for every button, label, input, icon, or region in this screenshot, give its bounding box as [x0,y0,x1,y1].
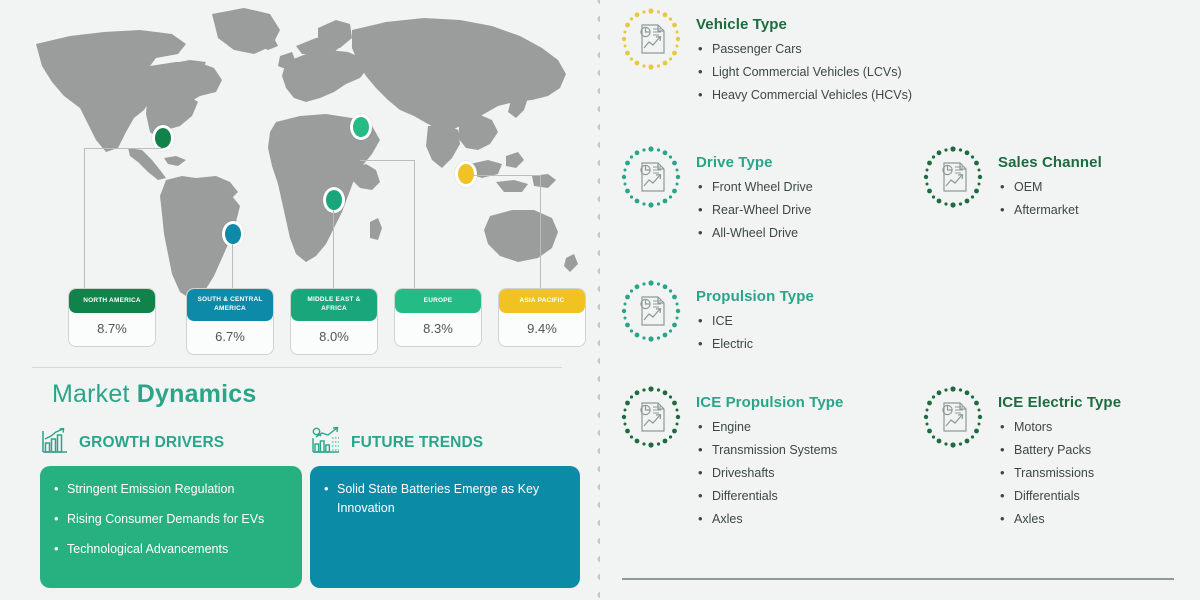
segment-item: Front Wheel Drive [696,180,813,194]
segment-drive-type[interactable]: Drive Type Front Wheel Drive Rear-Wheel … [618,144,813,240]
segment-title: Sales Channel [998,154,1102,171]
market-dynamics-title-bold: Dynamics [137,380,257,408]
segment-ice-electric-type[interactable]: ICE Electric Type Motors Battery Packs T… [920,384,1121,526]
region-name: SOUTH & CENTRAL AMERICA [187,289,273,321]
segment-item: Engine [696,420,843,434]
region-cagr-value: 8.7% [69,313,155,346]
connector-asia-pacific [540,175,541,288]
segment-title: ICE Electric Type [998,394,1121,411]
segment-body: Vehicle Type Passenger Cars Light Commer… [696,6,912,102]
segment-item: Light Commercial Vehicles (LCVs) [696,65,912,79]
segment-item: Passenger Cars [696,42,912,56]
segment-item: Rear-Wheel Drive [696,203,813,217]
growth-drivers-label: GROWTH DRIVERS [79,434,224,452]
segment-item: Differentials [696,489,843,503]
world-map-region [0,0,600,300]
region-card-europe[interactable]: EUROPE 8.3% [394,288,482,347]
document-chart-icon [618,278,684,344]
document-chart-icon [618,384,684,450]
segment-title: Drive Type [696,154,813,171]
region-card-asia-pacific[interactable]: ASIA PACIFIC 9.4% [498,288,586,347]
future-trends-header: FUTURE TRENDS [310,428,580,458]
segment-body: ICE Propulsion Type Engine Transmission … [696,384,843,526]
growth-driver-item: Technological Advancements [54,540,286,559]
south-central-america-marker[interactable] [222,221,244,247]
growth-drivers-column: GROWTH DRIVERS Stringent Emission Regula… [40,428,302,588]
segment-body: ICE Electric Type Motors Battery Packs T… [998,384,1121,526]
document-chart-icon [618,6,684,72]
right-panel-segments: Vehicle Type Passenger Cars Light Commer… [600,0,1200,600]
connector-europe [414,160,415,288]
segment-body: Propulsion Type ICE Electric [696,278,814,351]
segment-ice-propulsion-type[interactable]: ICE Propulsion Type Engine Transmission … [618,384,843,526]
segment-list: OEM Aftermarket [998,180,1102,217]
region-cagr-value: 9.4% [499,313,585,346]
future-trends-column: FUTURE TRENDS Solid State Batteries Emer… [310,428,580,588]
segment-item: Axles [696,512,843,526]
section-divider [32,367,562,368]
document-chart-icon [920,384,986,450]
region-name: NORTH AMERICA [69,289,155,313]
infographic-page: NORTH AMERICA 8.7% SOUTH & CENTRAL AMERI… [0,0,1200,600]
segment-body: Drive Type Front Wheel Drive Rear-Wheel … [696,144,813,240]
connector-north-america [84,148,85,288]
connector-asia-pacific-h [466,175,541,176]
connector-south-central [232,244,233,288]
segment-vehicle-type[interactable]: Vehicle Type Passenger Cars Light Commer… [618,6,912,102]
world-map-svg [0,0,600,300]
market-dynamics-title-light: Market [52,380,137,408]
trend-analysis-icon [310,426,342,461]
region-card-middle-east-africa[interactable]: MIDDLE EAST & AFRICA 8.0% [290,288,378,355]
region-name: ASIA PACIFIC [499,289,585,313]
segment-item: Aftermarket [998,203,1102,217]
growth-driver-item: Rising Consumer Demands for EVs [54,510,286,529]
connector-middle-east [333,210,334,288]
connector-north-america-h [84,148,163,149]
future-trend-item: Solid State Batteries Emerge as Key Inno… [324,480,564,518]
segment-item: Electric [696,337,814,351]
segment-list: ICE Electric [696,314,814,351]
europe-marker[interactable] [350,114,372,140]
future-trends-box: Solid State Batteries Emerge as Key Inno… [310,466,580,588]
growth-driver-item: Stringent Emission Regulation [54,480,286,499]
segment-list: Passenger Cars Light Commercial Vehicles… [696,42,912,102]
market-dynamics-title: Market Dynamics [52,380,256,409]
segment-title: ICE Propulsion Type [696,394,843,411]
region-card-south-central-america[interactable]: SOUTH & CENTRAL AMERICA 6.7% [186,288,274,355]
segment-item: ICE [696,314,814,328]
document-chart-icon [920,144,986,210]
growth-drivers-box: Stringent Emission Regulation Rising Con… [40,466,302,588]
region-name: MIDDLE EAST & AFRICA [291,289,377,321]
segment-item: Differentials [998,489,1121,503]
bottom-section-divider [622,578,1174,580]
segment-body: Sales Channel OEM Aftermarket [998,144,1102,217]
segment-item: Transmissions [998,466,1121,480]
middle-east-africa-marker[interactable] [323,187,345,213]
segment-sales-channel[interactable]: Sales Channel OEM Aftermarket [920,144,1102,217]
region-cagr-value: 8.0% [291,321,377,354]
segment-list: Front Wheel Drive Rear-Wheel Drive All-W… [696,180,813,240]
segment-item: OEM [998,180,1102,194]
segment-item: Heavy Commercial Vehicles (HCVs) [696,88,912,102]
segment-list: Engine Transmission Systems Driveshafts … [696,420,843,526]
segment-item: Transmission Systems [696,443,843,457]
segment-item: Axles [998,512,1121,526]
region-cagr-value: 8.3% [395,313,481,346]
growth-drivers-header: GROWTH DRIVERS [40,428,302,458]
bar-chart-growth-icon [40,427,70,460]
connector-europe-h [360,160,415,161]
segment-item: Driveshafts [696,466,843,480]
region-card-north-america[interactable]: NORTH AMERICA 8.7% [68,288,156,347]
asia-pacific-marker[interactable] [455,161,477,187]
future-trends-label: FUTURE TRENDS [351,434,483,452]
segment-list: Motors Battery Packs Transmissions Diffe… [998,420,1121,526]
document-chart-icon [618,144,684,210]
segment-title: Vehicle Type [696,16,912,33]
segment-propulsion-type[interactable]: Propulsion Type ICE Electric [618,278,814,351]
segment-item: Battery Packs [998,443,1121,457]
region-cagr-value: 6.7% [187,321,273,354]
left-panel: NORTH AMERICA 8.7% SOUTH & CENTRAL AMERI… [0,0,600,600]
segment-title: Propulsion Type [696,288,814,305]
segment-item: Motors [998,420,1121,434]
region-name: EUROPE [395,289,481,313]
segment-item: All-Wheel Drive [696,226,813,240]
